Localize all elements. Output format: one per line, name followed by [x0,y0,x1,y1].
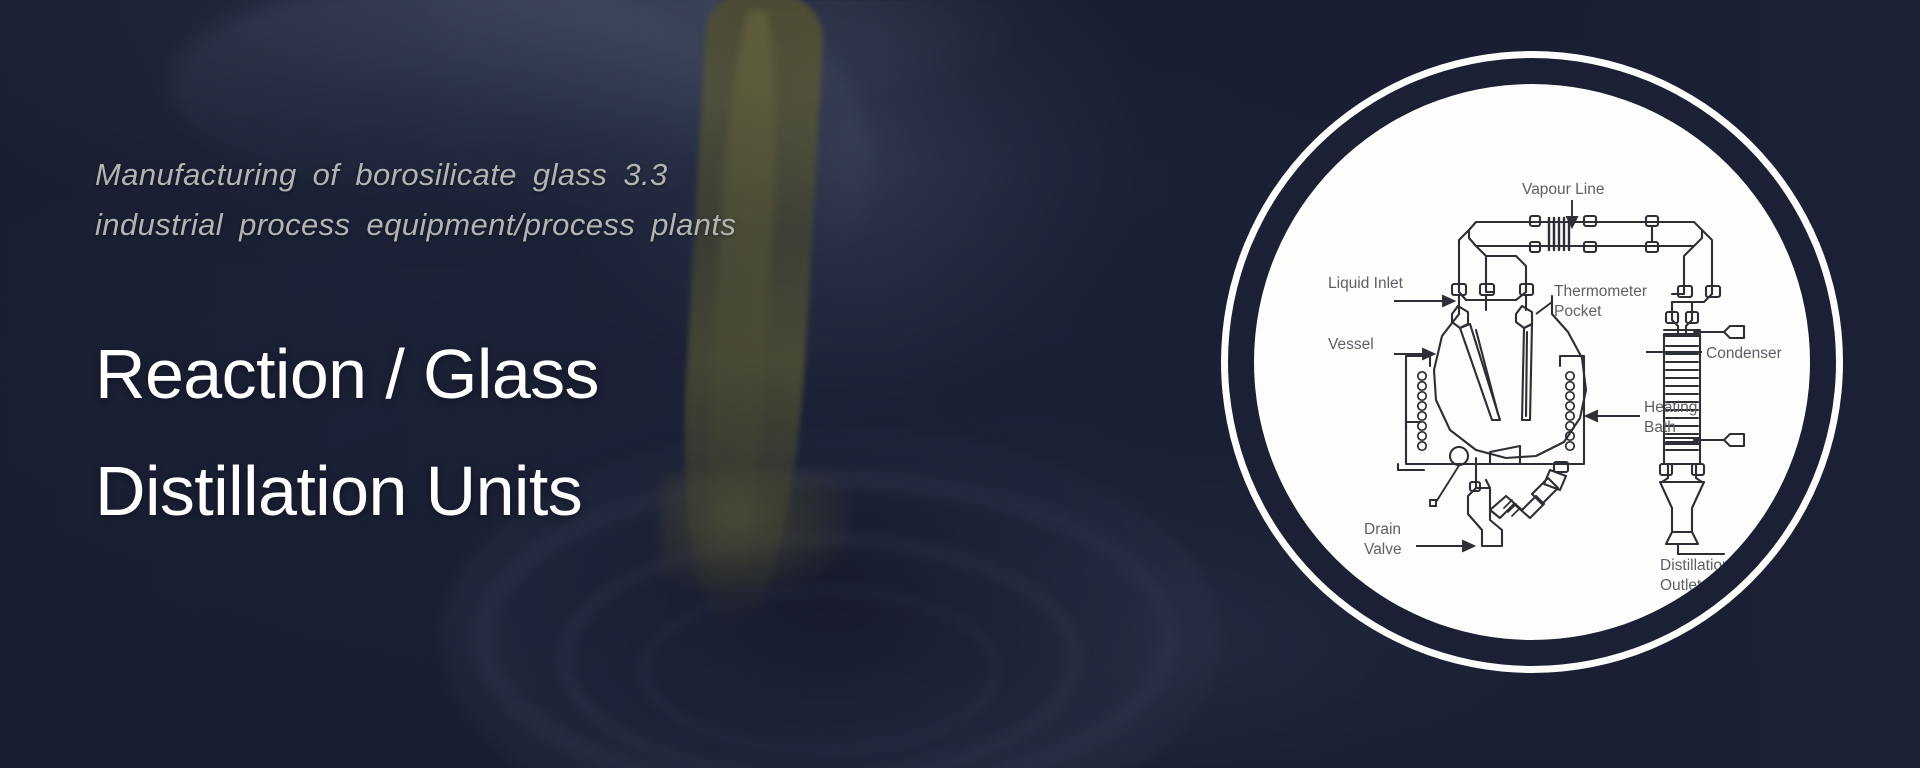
heating-bath-arrow [1586,411,1597,421]
label-heating-bath-line1: Heating [1644,399,1697,416]
drain-outlet-tube [1468,458,1502,546]
coolant-outlet-nozzle [1694,326,1744,338]
label-condenser: Condenser [1706,345,1782,362]
liquid-inlet-arrow [1443,296,1454,306]
vessel-head-connector [1494,292,1526,300]
vapour-line-left-elbow [1469,222,1554,246]
label-distillation-outlet-line1: Distillation [1660,557,1731,574]
diagram-canvas: Vapour Line Liquid Inlet Vessel Thermome… [1254,84,1810,640]
vessel-head-left-duct [1459,230,1494,300]
drain-valve-arrow [1463,541,1474,551]
distillation-outlet-leader [1678,544,1724,554]
vessel-head-left-duct-inner [1476,246,1494,292]
drain-valve-marker [1430,500,1436,506]
label-vessel: Vessel [1328,336,1374,353]
diagram-badge: Vapour Line Liquid Inlet Vessel Thermome… [1228,58,1836,666]
label-vapour-line: Vapour Line [1522,181,1604,198]
drain-valve-leader [1436,464,1460,502]
hero-banner: Manufacturing of borosilicate glass 3.3 … [0,0,1920,768]
vessel-arrow [1423,349,1434,359]
heating-bath-shell [1406,366,1584,464]
label-distillation-outlet-line2: Outlet [1660,577,1702,594]
vapour-line-pipe [1554,222,1702,246]
banner-copy: Manufacturing of borosilicate glass 3.3 … [95,150,1115,550]
label-heating-bath-line2: Bath [1644,419,1676,436]
label-liquid-inlet: Liquid Inlet [1328,275,1404,292]
reaction-vessel-body [1434,296,1586,458]
banner-headline: Reaction / Glass Distillation Units [95,316,1115,550]
drain-valve-assembly [1490,462,1568,518]
label-drain-valve-line1: Drain [1364,521,1401,538]
condenser-base-left [1662,464,1668,482]
banner-subtitle: Manufacturing of borosilicate glass 3.3 … [95,150,1115,250]
receiver-taper [1660,482,1704,532]
vessel-dip-pipes [1452,306,1532,420]
distillation-outlet-tip [1666,532,1698,544]
label-drain-valve-line2: Valve [1364,541,1402,558]
coolant-inlet-nozzle [1694,434,1744,446]
condenser-flange-bottom-left [1660,464,1672,475]
thermometer-pocket-leader [1536,302,1552,314]
heating-bath-right-lip [1560,356,1584,366]
bottom-valve-ball [1450,447,1468,465]
label-thermometer-pocket-line1: Thermometer [1554,283,1647,300]
distillation-unit-diagram: Vapour Line Liquid Inlet Vessel Thermome… [1254,84,1810,640]
condenser-base-right [1696,464,1702,482]
condenser-flange-bottom-right [1692,464,1704,475]
label-thermometer-pocket-line2: Pocket [1554,303,1602,320]
